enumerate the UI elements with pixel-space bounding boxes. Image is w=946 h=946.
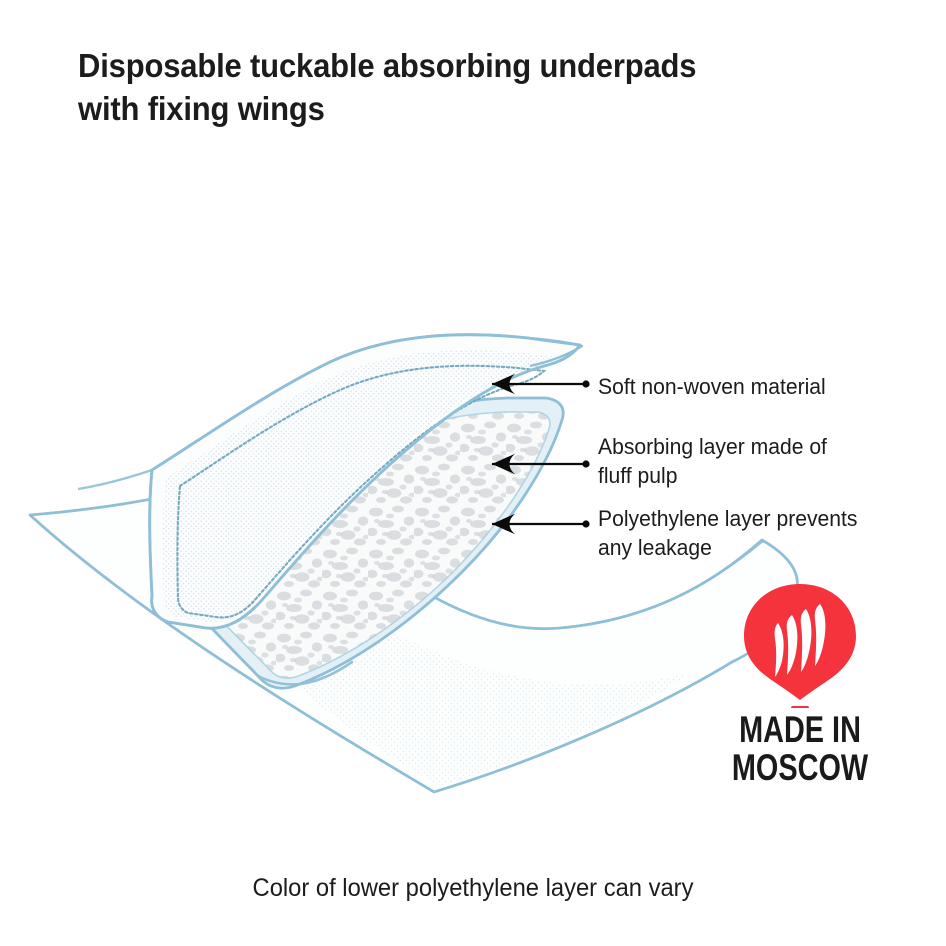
footer-caption: Color of lower polyethylene layer can va… — [24, 874, 923, 903]
annotation-label-absorbing-fluff-pulp: Absorbing layer made of fluff pulp — [598, 432, 827, 491]
made-in-moscow-logo: MADE IN MOSCOW — [700, 578, 900, 808]
logo-line-2: MOSCOW — [722, 750, 878, 786]
kremlin-dome-icon — [700, 578, 900, 708]
product-infographic: Disposable tuckable absorbing underpads … — [0, 0, 946, 946]
annotation-label-polyethylene-leakage: Polyethylene layer prevents any leakage — [598, 504, 857, 563]
logo-line-1: MADE IN — [722, 712, 878, 748]
annotation-label-soft-non-woven: Soft non-woven material — [598, 372, 826, 401]
